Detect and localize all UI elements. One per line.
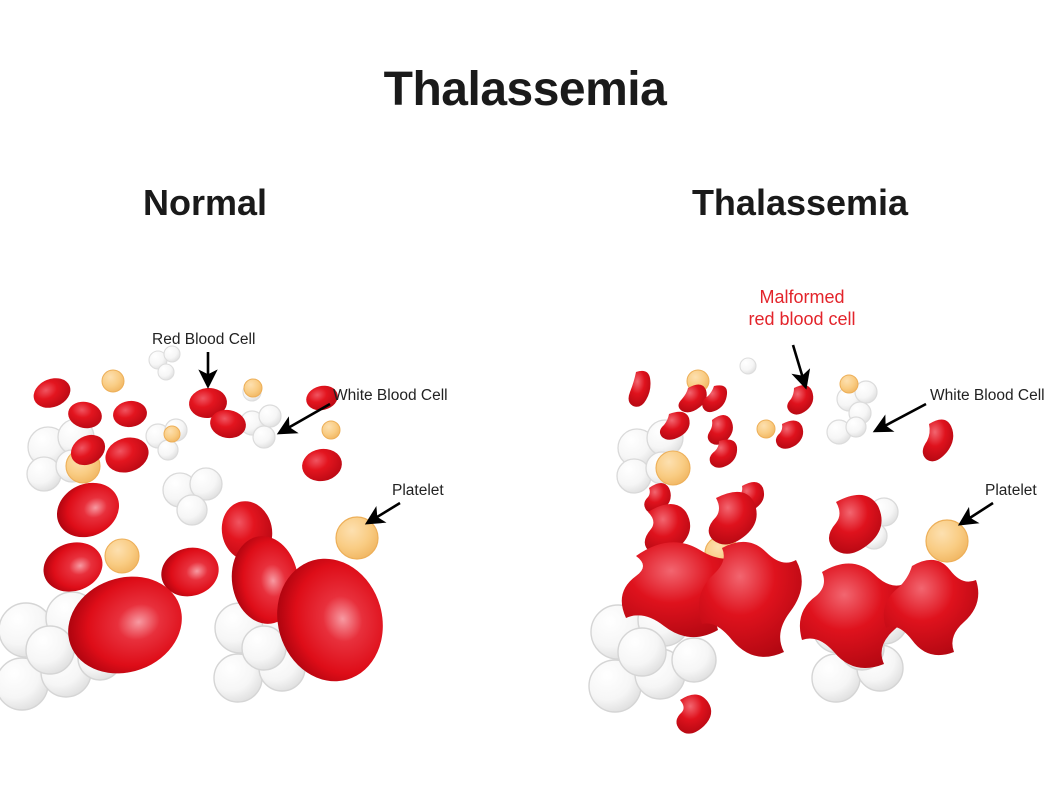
blood-cell-artwork bbox=[0, 0, 1050, 788]
platelet bbox=[164, 426, 180, 442]
white-blood-cell bbox=[589, 594, 716, 712]
malformed-red-blood-cell bbox=[884, 560, 979, 655]
annotation-arrows-left bbox=[208, 352, 400, 522]
white-blood-cell bbox=[812, 596, 908, 702]
panel-title-normal: Normal bbox=[60, 182, 350, 224]
malformed-red-blood-cell bbox=[829, 495, 882, 554]
red-blood-cell bbox=[101, 432, 153, 478]
panel-title-thalassemia: Thalassemia bbox=[640, 182, 960, 224]
malformed-red-blood-cell bbox=[622, 542, 745, 637]
malformed-red-blood-cell bbox=[710, 439, 737, 467]
platelet bbox=[926, 520, 968, 562]
malformed-red-blood-cell bbox=[644, 483, 671, 513]
white-blood-cell bbox=[163, 468, 222, 525]
malformed-red-blood-cell bbox=[800, 563, 911, 668]
platelet bbox=[105, 539, 139, 573]
malformed-red-blood-cell bbox=[676, 694, 711, 733]
page-title: Thalassemia bbox=[0, 62, 1050, 117]
malformed-red-blood-cell bbox=[709, 492, 757, 545]
white-blood-cell bbox=[146, 419, 187, 460]
red-blood-cell bbox=[111, 399, 148, 429]
red-blood-cell bbox=[156, 541, 224, 602]
arrow-white-blood-cell bbox=[281, 404, 330, 432]
white-blood-cell bbox=[243, 383, 261, 401]
platelet bbox=[244, 379, 262, 397]
white-blood-cell bbox=[149, 346, 180, 380]
red-blood-cell bbox=[216, 496, 277, 565]
platelet bbox=[66, 449, 100, 483]
white-blood-cell bbox=[837, 381, 877, 424]
label-white-blood-cell-right: White Blood Cell bbox=[930, 386, 1045, 405]
label-malformed-red-blood-cell: Malformed red blood cell bbox=[712, 286, 892, 330]
platelet bbox=[757, 420, 775, 438]
red-blood-cell bbox=[29, 373, 75, 413]
label-platelet-right: Platelet bbox=[985, 481, 1037, 500]
platelet bbox=[322, 421, 340, 439]
red-blood-cell bbox=[66, 399, 105, 432]
red-blood-cell bbox=[65, 429, 110, 471]
platelet bbox=[687, 370, 709, 392]
arrow-platelet bbox=[369, 503, 400, 522]
malformed-red-blood-cell bbox=[776, 420, 803, 448]
malformed-red-blood-cell bbox=[629, 371, 651, 407]
malformed-red-blood-cell bbox=[708, 415, 733, 445]
red-blood-cell bbox=[54, 561, 195, 689]
malformed-red-blood-cell bbox=[699, 542, 802, 657]
malformed-red-blood-cell bbox=[923, 419, 954, 461]
red-blood-cell bbox=[300, 446, 345, 484]
red-blood-cell bbox=[48, 473, 128, 547]
white-blood-cell bbox=[214, 596, 310, 702]
malformed-red-blood-cell bbox=[735, 482, 764, 512]
white-blood-cell bbox=[827, 417, 866, 444]
white-blood-cell bbox=[740, 358, 756, 374]
thalassemia-panel-cells bbox=[589, 358, 978, 734]
white-blood-cell bbox=[240, 405, 281, 448]
white-blood-cell bbox=[0, 592, 122, 710]
platelet bbox=[336, 517, 378, 559]
platelet bbox=[705, 536, 739, 570]
red-blood-cell bbox=[188, 386, 229, 420]
arrow-malformed-red-blood-cell bbox=[793, 345, 805, 385]
white-blood-cell bbox=[617, 420, 683, 493]
red-blood-cell bbox=[37, 535, 109, 599]
label-malformed-line1: Malformed bbox=[712, 286, 892, 308]
red-blood-cell bbox=[263, 546, 397, 694]
malformed-red-blood-cell bbox=[787, 385, 813, 414]
platelet bbox=[840, 375, 858, 393]
label-platelet-left: Platelet bbox=[392, 481, 444, 500]
malformed-red-blood-cell bbox=[660, 412, 690, 440]
illustration-canvas: Thalassemia Normal Thalassemia bbox=[0, 0, 1050, 788]
malformed-red-blood-cell bbox=[645, 504, 690, 555]
malformed-red-blood-cell bbox=[702, 385, 727, 412]
red-blood-cell bbox=[226, 532, 304, 628]
label-red-blood-cell: Red Blood Cell bbox=[152, 330, 255, 349]
platelet bbox=[656, 451, 690, 485]
platelet bbox=[102, 370, 124, 392]
arrow-white-blood-cell bbox=[877, 404, 926, 430]
white-blood-cell bbox=[27, 419, 94, 491]
label-malformed-line2: red blood cell bbox=[712, 308, 892, 330]
white-blood-cell bbox=[847, 498, 898, 549]
annotation-arrows-right bbox=[793, 345, 993, 523]
red-blood-cell bbox=[208, 407, 248, 441]
malformed-red-blood-cell bbox=[679, 384, 707, 412]
label-white-blood-cell-left: White Blood Cell bbox=[333, 386, 448, 405]
arrow-platelet bbox=[962, 503, 993, 523]
